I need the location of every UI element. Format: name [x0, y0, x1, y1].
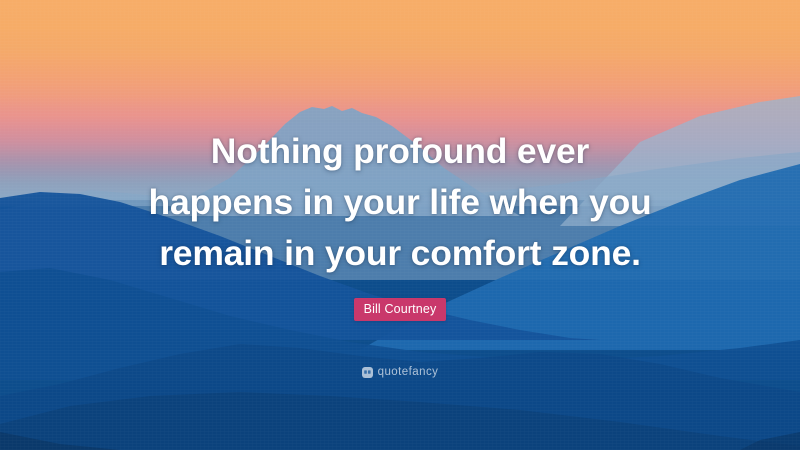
quote-line-3: remain in your comfort zone. — [84, 228, 716, 279]
author-name-badge[interactable]: Bill Courtney — [354, 298, 447, 321]
watermark-brand: quotefancy — [378, 366, 439, 378]
watermark[interactable]: quotefancy — [0, 366, 800, 378]
quote-block: Nothing profound ever happens in your li… — [0, 126, 800, 279]
author-row: Bill Courtney — [0, 298, 800, 321]
quote-line-2: happens in your life when you — [84, 177, 716, 228]
quote-line-1: Nothing profound ever — [84, 126, 716, 177]
quote-wallpaper: Nothing profound ever happens in your li… — [0, 0, 800, 450]
mountain-layer-foreground-dark — [0, 370, 800, 450]
quote-mark-icon — [362, 367, 373, 378]
